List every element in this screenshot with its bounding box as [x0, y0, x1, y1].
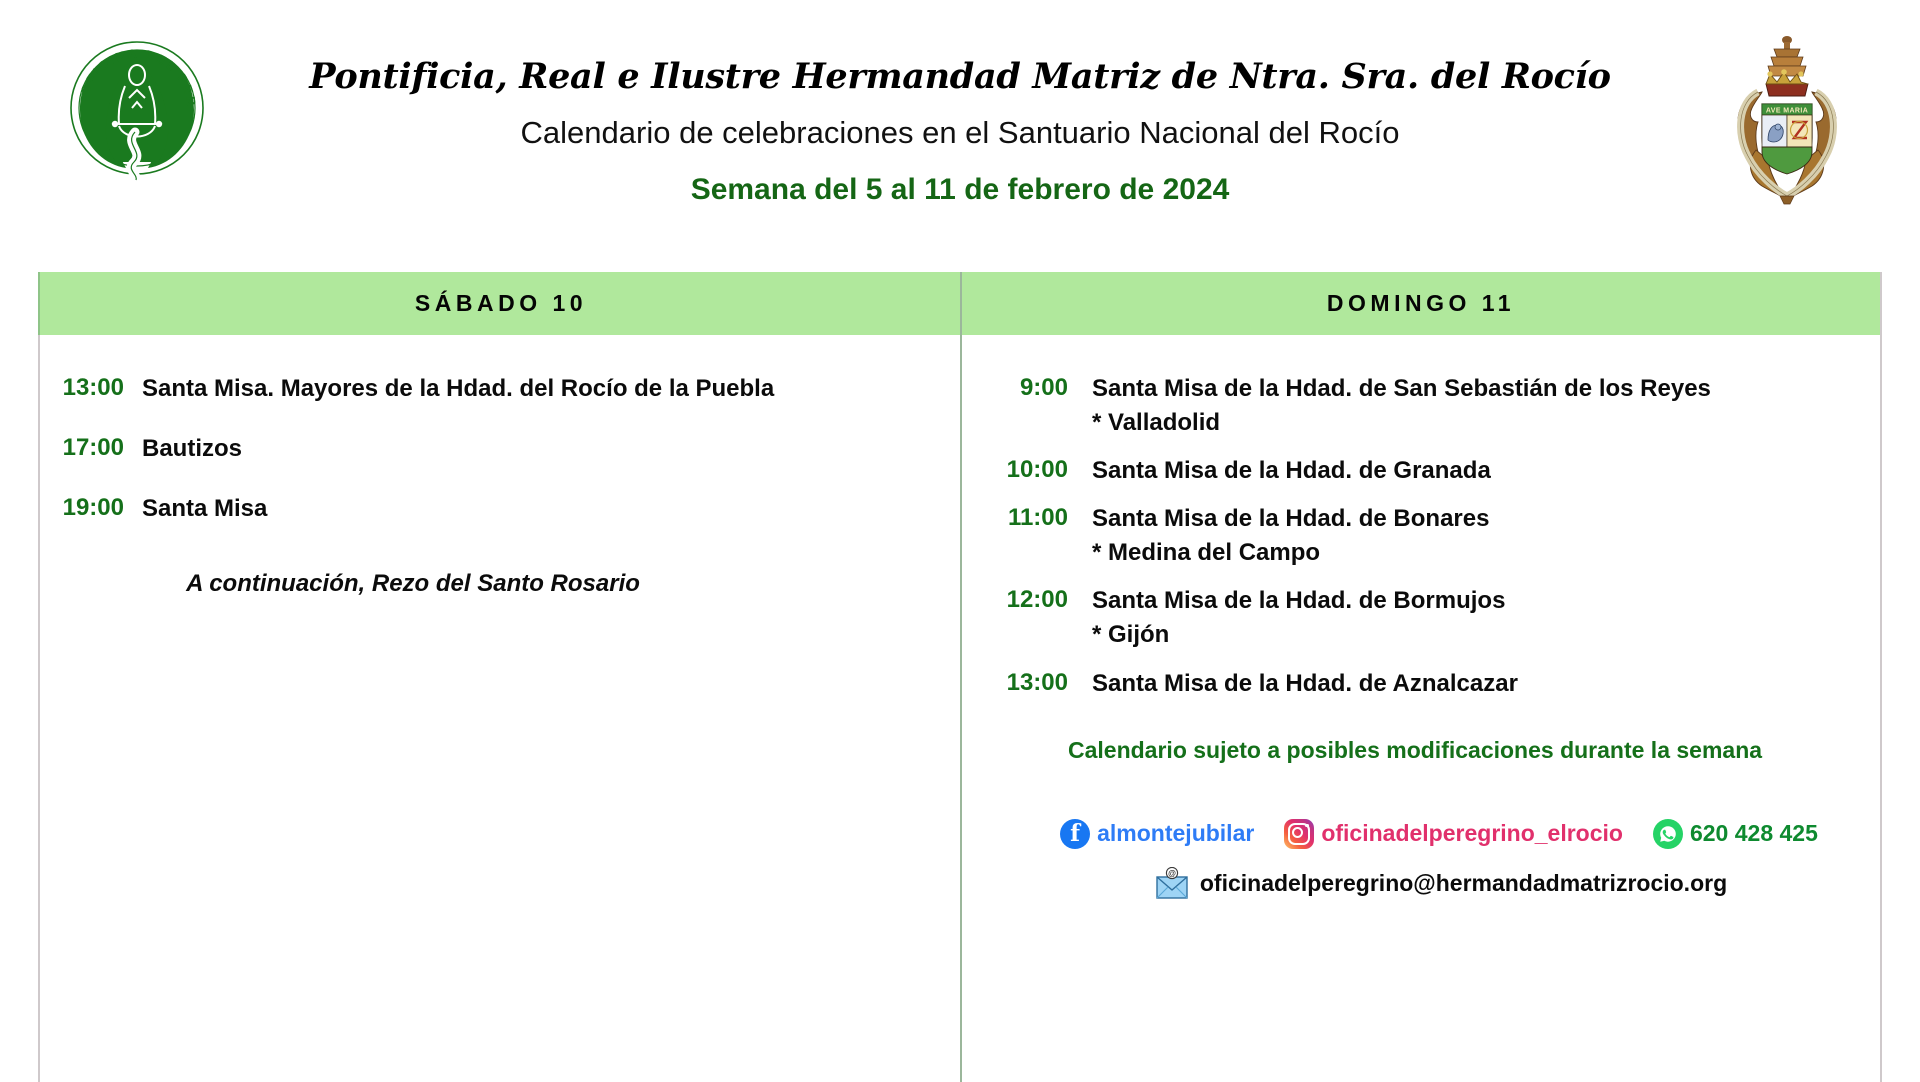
hermandad-matriz-coat-of-arms: AVE MARIA: [1722, 30, 1852, 205]
facebook-handle: almontejubilar: [1097, 820, 1254, 847]
instagram-contact[interactable]: oficinadelperegrino_elrocio: [1284, 819, 1623, 849]
svg-text:@: @: [1168, 869, 1176, 878]
whatsapp-phone: 620 428 425: [1690, 820, 1818, 847]
page-title: Pontificia, Real e Ilustre Hermandad Mat…: [240, 56, 1680, 97]
event-list-saturday: 13:00 Santa Misa. Mayores de la Hdad. de…: [40, 335, 960, 598]
event-description: Santa Misa de la Hdad. de San Sebastián …: [1092, 372, 1711, 440]
event-row[interactable]: 13:00 Santa Misa. Mayores de la Hdad. de…: [46, 372, 960, 406]
schedule-disclaimer: Calendario sujeto a posibles modificacio…: [1068, 737, 1880, 764]
svg-text:AVE MARIA: AVE MARIA: [1766, 108, 1808, 115]
calendar-column-sunday: DOMINGO 11 9:00 Santa Misa de la Hdad. d…: [960, 272, 1880, 1082]
event-description: Bautizos: [142, 432, 242, 466]
column-header-saturday: SÁBADO 10: [38, 272, 960, 335]
event-row[interactable]: 11:00 Santa Misa de la Hdad. de Bonares …: [980, 502, 1880, 570]
week-range-label: Semana del 5 al 11 de febrero de 2024: [240, 173, 1680, 207]
column-body-saturday: 13:00 Santa Misa. Mayores de la Hdad. de…: [40, 335, 960, 1080]
calendar-column-saturday: SÁBADO 10 13:00 Santa Misa. Mayores de l…: [40, 272, 960, 1082]
event-row[interactable]: 17:00 Bautizos: [46, 432, 960, 466]
facebook-contact[interactable]: almontejubilar: [1060, 819, 1254, 849]
page-subtitle: Calendario de celebraciones en el Santua…: [240, 115, 1680, 151]
event-description: Santa Misa de la Hdad. de Bonares * Medi…: [1092, 502, 1489, 570]
event-row[interactable]: 12:00 Santa Misa de la Hdad. de Bormujos…: [980, 584, 1880, 652]
email-envelope-icon[interactable]: @: [1151, 867, 1193, 901]
event-description: Santa Misa de la Hdad. de Aznalcazar: [1092, 667, 1518, 701]
event-row[interactable]: 9:00 Santa Misa de la Hdad. de San Sebas…: [980, 372, 1880, 440]
facebook-icon[interactable]: [1060, 819, 1090, 849]
email-address: oficinadelperegrino@hermandadmatrizrocio…: [1200, 870, 1727, 897]
instagram-handle: oficinadelperegrino_elrocio: [1321, 820, 1623, 847]
event-time: 12:00: [980, 584, 1068, 615]
event-description: Santa Misa de la Hdad. de Granada: [1092, 454, 1491, 488]
event-description: Santa Misa de la Hdad. de Bormujos * Gij…: [1092, 584, 1505, 652]
column-body-sunday: 9:00 Santa Misa de la Hdad. de San Sebas…: [962, 335, 1880, 1080]
instagram-frame: [1288, 823, 1310, 845]
column-header-sunday: DOMINGO 11: [962, 272, 1880, 335]
event-description: Santa Misa: [142, 492, 267, 526]
event-time: 9:00: [980, 372, 1068, 403]
event-time: 13:00: [46, 372, 124, 403]
calendar-table: SÁBADO 10 13:00 Santa Misa. Mayores de l…: [38, 272, 1882, 1082]
event-time: 13:00: [980, 667, 1068, 698]
event-time: 11:00: [980, 502, 1068, 533]
whatsapp-icon[interactable]: [1653, 819, 1683, 849]
contact-row-social: almontejubilar oficinadelperegrino_elroc…: [998, 819, 1880, 849]
rosary-note: A continuación, Rezo del Santo Rosario: [46, 570, 960, 598]
event-time: 10:00: [980, 454, 1068, 485]
event-time: 19:00: [46, 492, 124, 523]
event-row[interactable]: 13:00 Santa Misa de la Hdad. de Aznalcaz…: [980, 667, 1880, 701]
event-time: 17:00: [46, 432, 124, 463]
page-header: OFICINA DEL PEREGRINO Pontificia, Real e…: [0, 0, 1920, 265]
contact-row-email: @ oficinadelperegrino@hermandadmatrizroc…: [998, 867, 1880, 901]
event-description: Santa Misa. Mayores de la Hdad. del Rocí…: [142, 372, 774, 406]
header-titles: Pontificia, Real e Ilustre Hermandad Mat…: [240, 0, 1680, 207]
event-row[interactable]: 19:00 Santa Misa: [46, 492, 960, 526]
event-row[interactable]: 10:00 Santa Misa de la Hdad. de Granada: [980, 454, 1880, 488]
contact-footer: almontejubilar oficinadelperegrino_elroc…: [998, 819, 1880, 901]
whatsapp-contact[interactable]: 620 428 425: [1653, 819, 1818, 849]
email-contact[interactable]: @ oficinadelperegrino@hermandadmatrizroc…: [1151, 867, 1727, 901]
instagram-icon[interactable]: [1284, 819, 1314, 849]
oficina-del-peregrino-logo: OFICINA DEL PEREGRINO: [62, 28, 212, 188]
event-list-sunday: 9:00 Santa Misa de la Hdad. de San Sebas…: [962, 335, 1880, 901]
